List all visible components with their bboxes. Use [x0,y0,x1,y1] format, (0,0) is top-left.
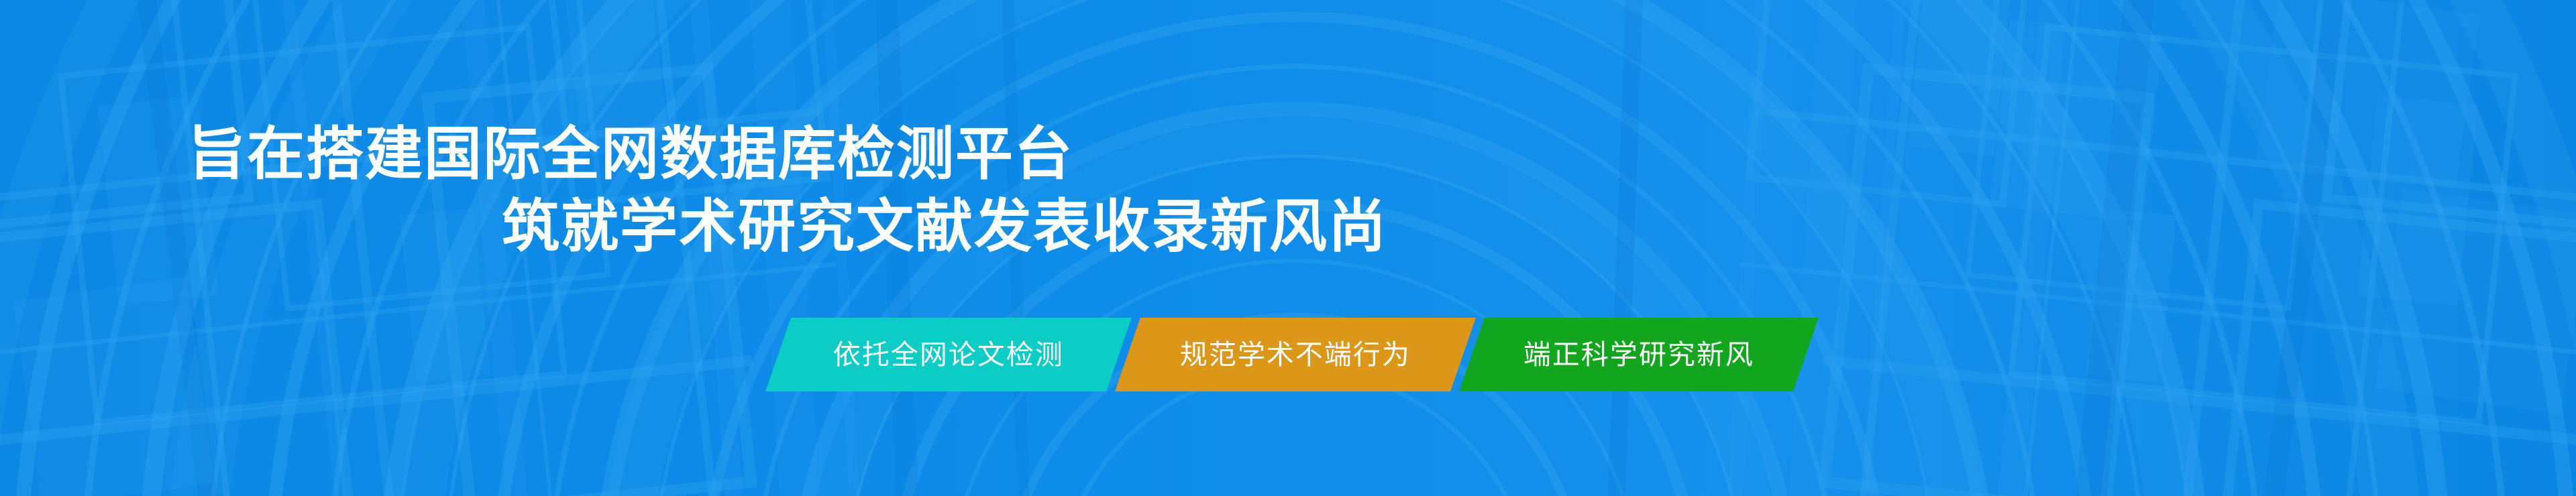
feature-tag-2-label: 规范学术不端行为 [1180,341,1411,369]
headline-line-2: 筑就学术研究文献发表收录新风尚 [0,190,1838,263]
feature-tag-3[interactable]: 端正科学研究新风 [1459,318,1819,391]
headline-line-1: 旨在搭建国际全网数据库检测平台 [0,118,1838,190]
feature-tag-1-label: 依托全网论文检测 [833,341,1064,369]
feature-tag-1[interactable]: 依托全网论文检测 [765,318,1132,391]
feature-tag-strip: 依托全网论文检测 规范学术不端行为 端正科学研究新风 [778,318,1806,391]
right-grid-pattern [1710,0,2576,496]
headline-block: 旨在搭建国际全网数据库检测平台 筑就学术研究文献发表收录新风尚 [0,118,1838,263]
promo-banner: 旨在搭建国际全网数据库检测平台 筑就学术研究文献发表收录新风尚 依托全网论文检测… [0,0,2576,496]
feature-tag-2[interactable]: 规范学术不端行为 [1115,318,1476,391]
feature-tag-3-label: 端正科学研究新风 [1523,341,1754,369]
